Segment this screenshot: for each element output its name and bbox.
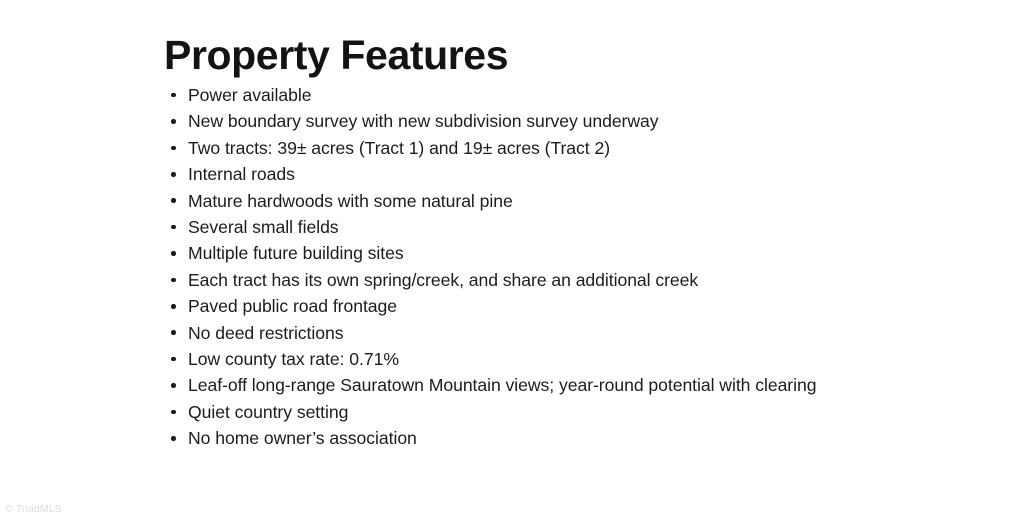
list-item-label: Quiet country setting — [188, 402, 348, 422]
list-item: Each tract has its own spring/creek, and… — [168, 267, 988, 293]
slide-canvas: Property Features Power availableNew bou… — [0, 0, 1024, 519]
list-item-label: New boundary survey with new subdivision… — [188, 111, 659, 131]
bullet-icon — [171, 225, 176, 230]
bullet-icon — [171, 251, 176, 256]
list-item-label: Power available — [188, 85, 311, 105]
list-item: Two tracts: 39± acres (Tract 1) and 19± … — [168, 135, 988, 161]
list-item: Multiple future building sites — [168, 240, 988, 266]
list-item: Low county tax rate: 0.71% — [168, 346, 988, 372]
bullet-icon — [171, 436, 176, 441]
bullet-icon — [171, 304, 176, 309]
list-item-label: Mature hardwoods with some natural pine — [188, 191, 513, 211]
bullet-icon — [171, 119, 176, 124]
page-title: Property Features — [164, 33, 508, 79]
bullet-icon — [171, 146, 176, 151]
copyright-icon: © — [5, 504, 13, 515]
list-item-label: Internal roads — [188, 164, 295, 184]
list-item: No deed restrictions — [168, 320, 988, 346]
list-item-label: Several small fields — [188, 217, 339, 237]
bullet-icon — [171, 383, 176, 388]
bullet-icon — [171, 172, 176, 177]
list-item: Paved public road frontage — [168, 293, 988, 319]
list-item-label: No home owner’s association — [188, 428, 417, 448]
list-item-label: Multiple future building sites — [188, 243, 404, 263]
bullet-icon — [171, 330, 176, 335]
property-features-list: Power availableNew boundary survey with … — [168, 82, 988, 451]
list-item: No home owner’s association — [168, 425, 988, 451]
list-item: Quiet country setting — [168, 399, 988, 425]
list-item-label: Leaf-off long-range Sauratown Mountain v… — [188, 375, 816, 395]
bullet-icon — [171, 93, 176, 98]
watermark: © TriadMLS — [5, 503, 62, 515]
list-item-label: Paved public road frontage — [188, 296, 397, 316]
list-item: Mature hardwoods with some natural pine — [168, 188, 988, 214]
list-item-label: Low county tax rate: 0.71% — [188, 349, 399, 369]
bullet-icon — [171, 278, 176, 283]
list-item: Power available — [168, 82, 988, 108]
list-item-label: No deed restrictions — [188, 323, 343, 343]
list-item: Several small fields — [168, 214, 988, 240]
list-item-label: Each tract has its own spring/creek, and… — [188, 270, 698, 290]
list-item: Internal roads — [168, 161, 988, 187]
bullet-icon — [171, 357, 176, 362]
bullet-icon — [171, 198, 176, 203]
watermark-label: TriadMLS — [16, 503, 62, 515]
list-item: Leaf-off long-range Sauratown Mountain v… — [168, 372, 988, 398]
list-item-label: Two tracts: 39± acres (Tract 1) and 19± … — [188, 138, 610, 158]
bullet-icon — [171, 410, 176, 415]
list-item: New boundary survey with new subdivision… — [168, 108, 988, 134]
